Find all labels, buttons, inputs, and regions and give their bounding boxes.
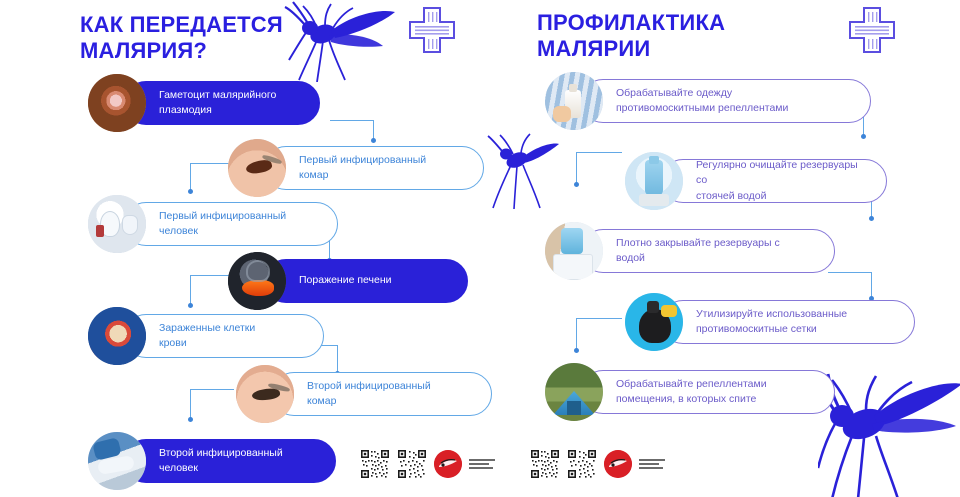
qr-code-icon[interactable] <box>397 449 427 479</box>
left-step-6-pill[interactable]: Второй инфицированный комар <box>272 372 492 416</box>
organization-logo <box>434 450 462 478</box>
qr-code-icon[interactable] <box>530 449 560 479</box>
right-step-1-pill[interactable]: Обрабатывайте одежду противомоскитными р… <box>581 79 871 123</box>
organization-logo <box>604 450 632 478</box>
left-step-4-label: Поражение печени <box>299 273 392 288</box>
right-step-5[interactable]: Обрабатывайте репеллентами помещения, в … <box>545 363 835 421</box>
mosquito-silhouette-icon <box>818 368 960 497</box>
right-step-4-pill[interactable]: Утилизируйте использованные противомоски… <box>661 300 915 344</box>
right-step-1-thumbnail <box>545 72 603 130</box>
left-step-1-label: Гаметоцит малярийного плазмодия <box>159 88 276 118</box>
left-step-7[interactable]: Второй инфицированный человек <box>88 432 336 490</box>
right-step-2-pill[interactable]: Регулярно очищайте резервуары со стоячей… <box>661 159 887 203</box>
right-step-5-thumbnail <box>545 363 603 421</box>
medical-cross-icon <box>406 4 458 56</box>
right-step-2-label: Регулярно очищайте резервуары со стоячей… <box>696 158 870 204</box>
left-step-3-label: Первый инфицированный человек <box>159 209 286 239</box>
right-step-2-thumbnail <box>625 152 683 210</box>
right-step-3-thumbnail <box>545 222 603 280</box>
left-step-2-thumbnail <box>228 139 286 197</box>
left-step-7-pill[interactable]: Второй инфицированный человек <box>124 439 336 483</box>
left-step-4[interactable]: Поражение печени <box>228 252 468 310</box>
left-step-4-pill[interactable]: Поражение печени <box>264 259 468 303</box>
right-step-1-label: Обрабатывайте одежду противомоскитными р… <box>616 86 788 116</box>
connector-left-1 <box>330 120 390 142</box>
right-step-3-label: Плотно закрывайте резервуары с водой <box>616 236 780 266</box>
left-step-2[interactable]: Первый инфицированный комар <box>228 139 484 197</box>
right-step-4-label: Утилизируйте использованные противомоски… <box>696 307 847 337</box>
left-step-5[interactable]: Зараженные клетки крови <box>88 307 324 365</box>
right-step-3-pill[interactable]: Плотно закрывайте резервуары с водой <box>581 229 835 273</box>
right-step-5-label: Обрабатывайте репеллентами помещения, в … <box>616 377 767 407</box>
right-step-3[interactable]: Плотно закрывайте резервуары с водой <box>545 222 835 280</box>
left-step-5-pill[interactable]: Зараженные клетки крови <box>124 314 324 358</box>
left-branding-bar <box>360 449 495 479</box>
left-step-7-label: Второй инфицированный человек <box>159 446 283 476</box>
left-step-6-label: Второй инфицированный комар <box>307 379 431 409</box>
left-column-title: КАК ПЕРЕДАЕТСЯ МАЛЯРИЯ? <box>80 12 283 63</box>
left-step-5-thumbnail <box>88 307 146 365</box>
organization-logo-text <box>639 459 665 469</box>
connector-right-5 <box>828 272 888 300</box>
mosquito-silhouette-icon <box>487 130 559 210</box>
medical-cross-icon <box>846 4 898 56</box>
right-step-5-pill[interactable]: Обрабатывайте репеллентами помещения, в … <box>581 370 835 414</box>
left-step-2-pill[interactable]: Первый инфицированный комар <box>264 146 484 190</box>
left-step-6-thumbnail <box>236 365 294 423</box>
left-step-1-pill[interactable]: Гаметоцит малярийного плазмодия <box>124 81 320 125</box>
right-step-1[interactable]: Обрабатывайте одежду противомоскитными р… <box>545 72 871 130</box>
left-step-4-thumbnail <box>228 252 286 310</box>
infographic-poster: КАК ПЕРЕДАЕТСЯ МАЛЯРИЯ? <box>0 0 960 497</box>
left-step-7-thumbnail <box>88 432 146 490</box>
qr-code-icon[interactable] <box>567 449 597 479</box>
right-column-title: ПРОФИЛАКТИКА МАЛЯРИИ <box>537 10 725 61</box>
left-step-6[interactable]: Второй инфицированный комар <box>236 365 492 423</box>
organization-logo-text <box>469 459 495 469</box>
left-step-3-thumbnail <box>88 195 146 253</box>
right-branding-bar <box>530 449 665 479</box>
left-step-3-pill[interactable]: Первый инфицированный человек <box>124 202 338 246</box>
left-step-5-label: Зараженные клетки крови <box>159 321 255 351</box>
left-step-1[interactable]: Гаметоцит малярийного плазмодия <box>88 74 320 132</box>
right-step-2[interactable]: Регулярно очищайте резервуары со стоячей… <box>625 152 887 210</box>
qr-code-icon[interactable] <box>360 449 390 479</box>
left-step-1-thumbnail <box>88 74 146 132</box>
right-step-4[interactable]: Утилизируйте использованные противомоски… <box>625 293 915 351</box>
right-step-4-thumbnail <box>625 293 683 351</box>
left-step-3[interactable]: Первый инфицированный человек <box>88 195 338 253</box>
left-step-2-label: Первый инфицированный комар <box>299 153 426 183</box>
mosquito-silhouette-icon <box>283 0 401 82</box>
